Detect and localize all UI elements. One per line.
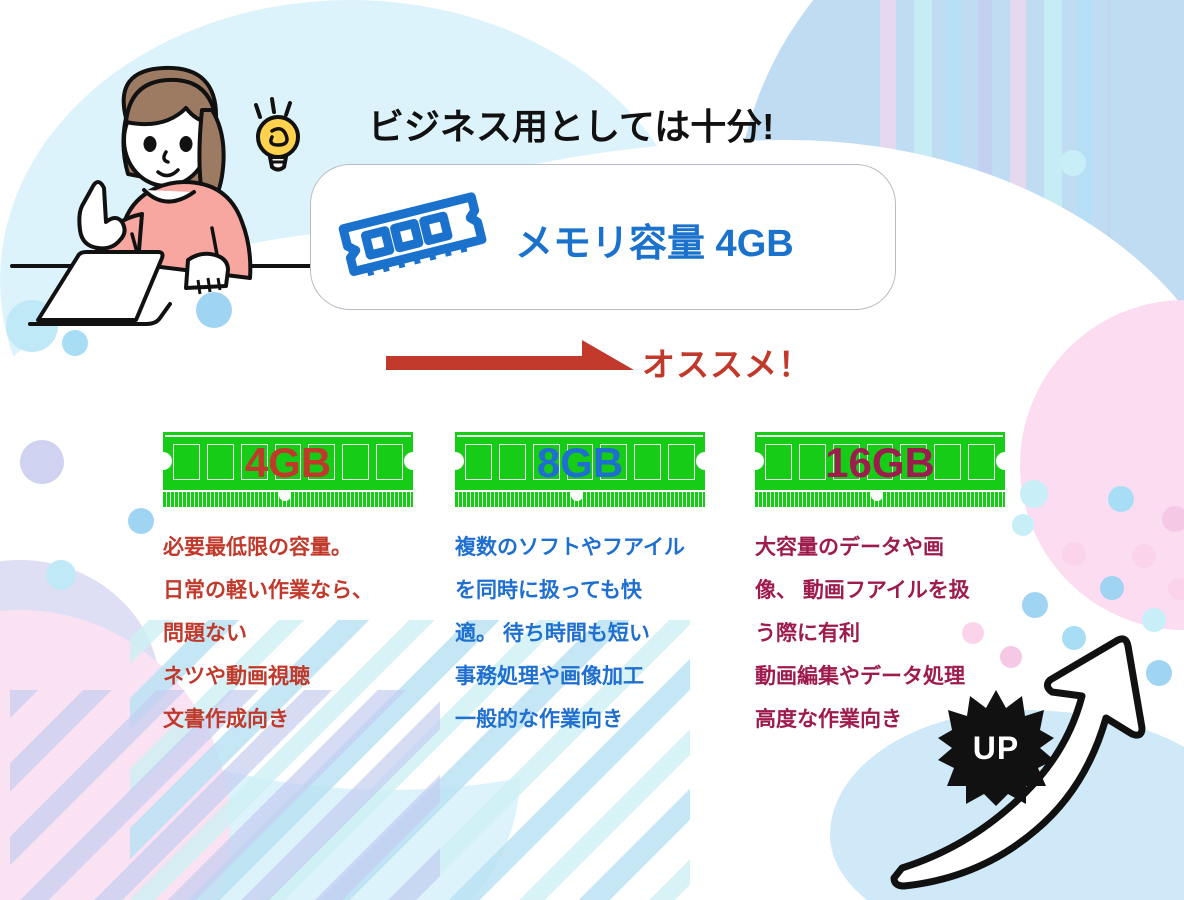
column-8gb-description: 複数のソフトやフアイル を同時に扱っても快 適。 待ち時間も短い 事務処理や画像… — [455, 526, 755, 741]
deco-dot — [1142, 608, 1166, 632]
up-badge-starburst — [938, 690, 1054, 806]
right-arrow-icon — [386, 336, 636, 384]
desc-line: 問題ない — [163, 612, 463, 655]
desc-line: 像、 動画フアイルを扱 — [755, 569, 1055, 612]
column-4gb-description: 必要最低限の容量。 日常の軽い作業なら、 問題ない ネツや動画視聴 文書作成向き — [163, 526, 463, 741]
ram-stick-8gb: 8GB — [455, 432, 705, 510]
deco-dot — [1100, 576, 1124, 600]
infographic-canvas: ビジネス用としては十分! メモリ容量 4GB オススメ！ — [0, 0, 1184, 900]
desc-line: 適。 待ち時間も短い — [455, 612, 755, 655]
desc-line: 必要最低限の容量。 — [163, 526, 463, 569]
ram-stick-4gb: 4GB — [163, 432, 413, 510]
desc-line: を同時に扱っても快 — [455, 569, 755, 612]
desc-line: 事務処理や画像加工 — [455, 655, 755, 698]
column-8gb: 8GB 複数のソフトやフアイル を同時に扱っても快 適。 待ち時間も短い 事務処… — [455, 432, 755, 741]
desc-line: 日常の軽い作業なら、 — [163, 569, 463, 612]
deco-dot — [1132, 544, 1156, 568]
deco-dot — [1108, 486, 1134, 512]
deco-dot — [1162, 506, 1184, 532]
memory-capacity-label: メモリ容量 4GB — [515, 212, 794, 267]
page-title: ビジネス用としては十分! — [368, 98, 774, 150]
lightbulb-icon — [248, 95, 310, 177]
deco-dot — [1060, 150, 1086, 176]
recommend-label: オススメ！ — [642, 338, 812, 386]
desc-line: ネツや動画視聴 — [163, 655, 463, 698]
desc-line: 複数のソフトやフアイル — [455, 526, 755, 569]
woman-with-laptop-illustration — [8, 48, 338, 338]
desc-line: 大容量のデータや画 — [755, 526, 1055, 569]
ram-module-icon — [334, 190, 494, 290]
ram-capacity-16gb: 16GB — [755, 434, 1005, 492]
deco-dot — [46, 560, 76, 590]
ram-capacity-8gb: 8GB — [455, 434, 705, 492]
deco-dot — [128, 508, 154, 534]
ram-stick-16gb: 16GB — [755, 432, 1005, 510]
ram-capacity-4gb: 4GB — [163, 434, 413, 492]
deco-dot — [1168, 578, 1184, 600]
deco-dot — [1062, 542, 1086, 566]
desc-line: 文書作成向き — [163, 698, 463, 741]
desc-line: 一般的な作業向き — [455, 698, 755, 741]
deco-dot — [20, 440, 64, 484]
column-4gb: 4GB 必要最低限の容量。 日常の軽い作業なら、 問題ない ネツや動画視聴 文書… — [163, 432, 463, 741]
